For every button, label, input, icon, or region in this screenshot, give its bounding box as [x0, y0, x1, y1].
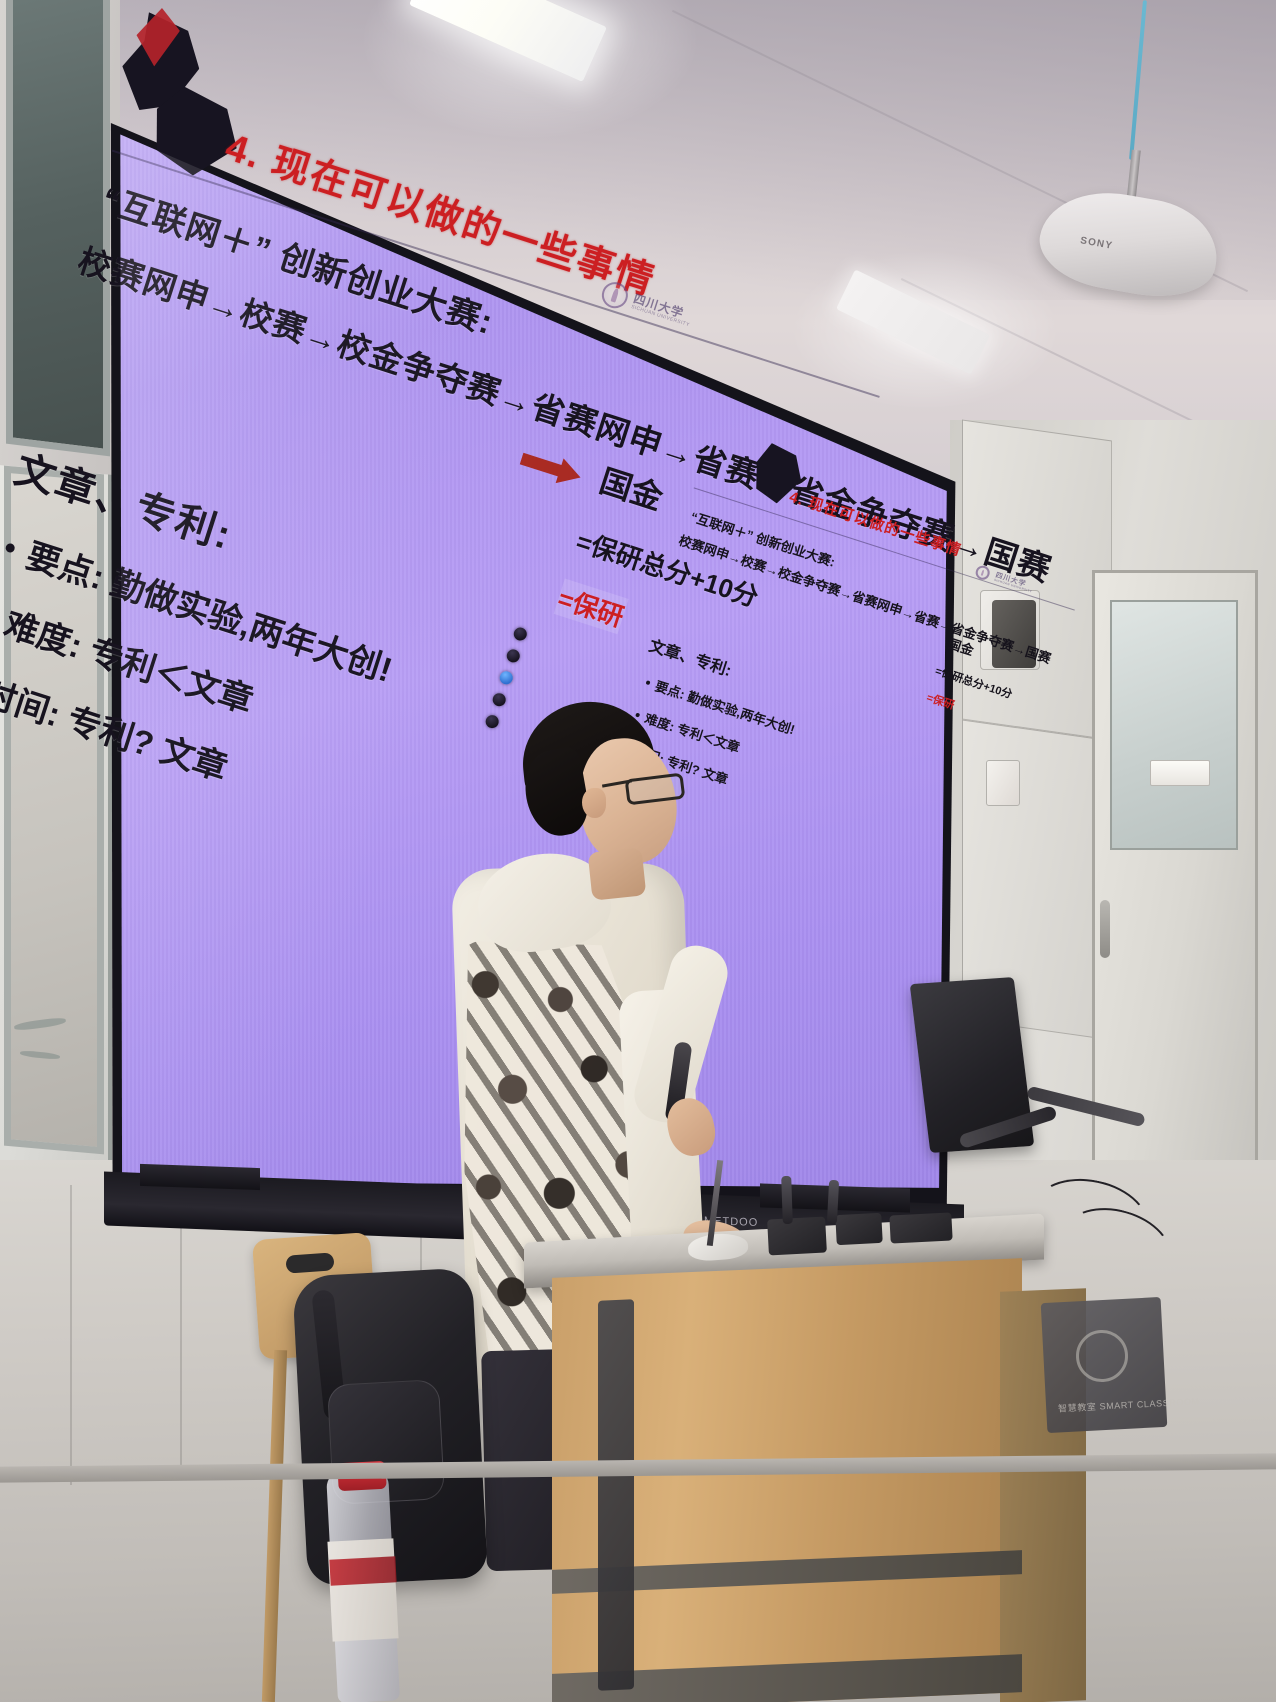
progress-dot-active[interactable]: [498, 670, 514, 686]
arrow-right-icon: [518, 446, 585, 490]
presenter-ear: [582, 788, 606, 818]
slide-divider: [112, 150, 880, 398]
presenter-neck: [588, 847, 647, 900]
university-logo-secondary: 四川大学 SICHUAN UNIVERSITY: [974, 564, 1035, 596]
bottle-label-band: [329, 1556, 396, 1585]
desk-microphone-icon[interactable]: [781, 1176, 793, 1224]
wall-seam: [70, 1185, 72, 1485]
desk-control-unit[interactable]: [767, 1217, 827, 1256]
slide2-section-heading: 文章、专利:: [646, 632, 735, 681]
bottle-label: [327, 1538, 398, 1641]
progress-dot[interactable]: [512, 626, 528, 642]
university-logo-text: 四川大学 SICHUAN UNIVERSITY: [630, 293, 694, 329]
glasses-icon: [625, 773, 686, 806]
classroom-scene: SONY 4. 现在可以做的一些事情 “互联网＋” 创新创业大赛: 校赛网申→校…: [0, 0, 1276, 1702]
podium-edge-panel: [598, 1299, 634, 1691]
wall-seam: [180, 1190, 182, 1480]
desk-control-unit[interactable]: [889, 1212, 952, 1243]
bullet-dot-icon: [646, 680, 651, 685]
door-window: [1110, 600, 1238, 850]
wall-sign: [1150, 760, 1210, 786]
chair-backrest-slot: [285, 1252, 334, 1273]
desk-control-unit[interactable]: [835, 1213, 883, 1245]
bullet-dot-icon: [5, 542, 16, 553]
award-note-baoyan: =保研: [554, 578, 629, 634]
progress-dot[interactable]: [505, 648, 521, 664]
slide2-award-note-baoyan: =保研: [925, 689, 957, 713]
display-stand-left: [140, 1164, 260, 1190]
door-handle[interactable]: [1100, 900, 1110, 958]
